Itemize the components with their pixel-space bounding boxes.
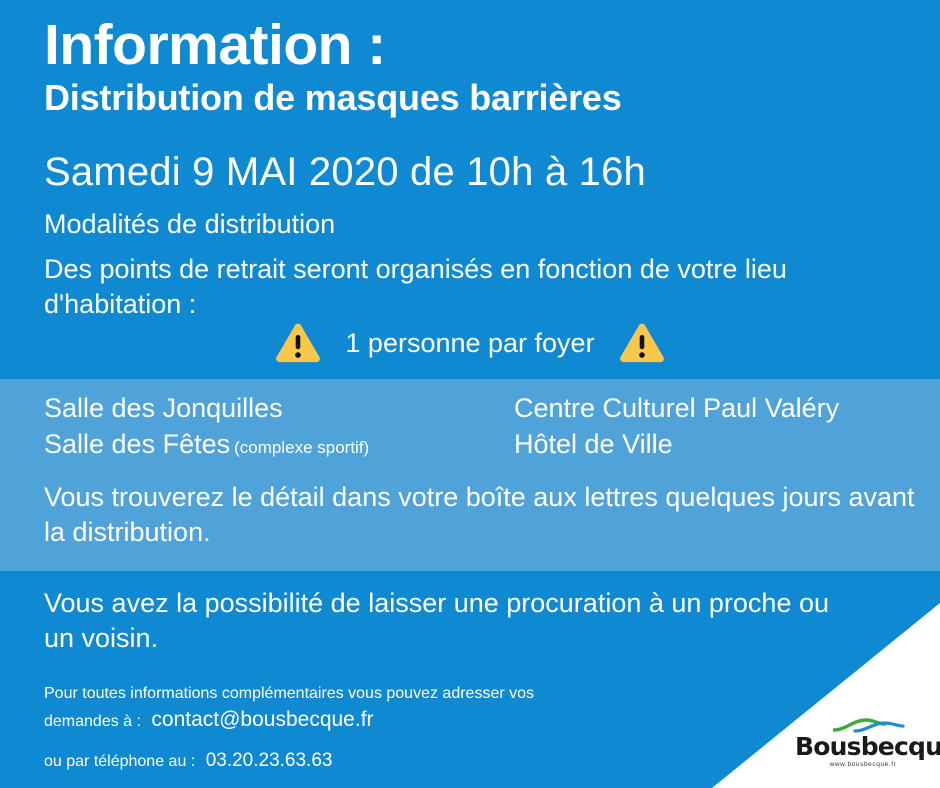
venue-column-left: Salle des Jonquilles Salle des Fêtes(com…	[44, 391, 514, 462]
venue-note	[839, 402, 843, 421]
bousbecque-logo: Bousbecque www.bousbecque.fr	[795, 718, 931, 768]
list-item: Hôtel de Ville	[514, 427, 914, 463]
poster-canvas: Information : Distribution de masques ba…	[0, 0, 940, 788]
venue-note	[283, 402, 287, 421]
contact-phone-line: ou par téléphone au : 03.20.23.63.63	[44, 747, 764, 775]
warning-text: 1 personne par foyer	[339, 328, 600, 359]
venue-note: (complexe sportif)	[230, 438, 369, 457]
contact-phone-label: ou par téléphone au :	[44, 753, 200, 770]
venue-column-right: Centre Culturel Paul Valéry Hôtel de Vil…	[514, 391, 914, 462]
venue-note	[673, 438, 677, 457]
event-date-line: Samedi 9 MAI 2020 de 10h à 16h	[44, 150, 646, 195]
venue-name: Salle des Jonquilles	[44, 393, 283, 423]
contact-email-line: demandes à : contact@bousbecque.fr	[44, 705, 764, 735]
venue-name: Salle des Fêtes	[44, 429, 230, 459]
venue-list: Salle des Jonquilles Salle des Fêtes(com…	[44, 391, 924, 462]
modalities-heading: Modalités de distribution	[44, 209, 335, 240]
venue-name: Centre Culturel Paul Valéry	[514, 393, 839, 423]
contact-email-label: demandes à :	[44, 713, 145, 730]
contact-intro-text: Pour toutes informations complémentaires…	[44, 685, 534, 702]
warning-triangle-icon	[275, 322, 321, 364]
list-item: Salle des Fêtes(complexe sportif)	[44, 427, 514, 463]
contact-phone-number[interactable]: 03.20.23.63.63	[200, 750, 333, 771]
contact-intro-line: Pour toutes informations complémentaires…	[44, 682, 764, 705]
contact-email-address[interactable]: contact@bousbecque.fr	[145, 708, 373, 731]
list-item: Salle des Jonquilles	[44, 391, 514, 427]
logo-website-url: www.bousbecque.fr	[795, 761, 931, 768]
warning-row: 1 personne par foyer	[0, 322, 940, 364]
logo-wordmark: Bousbecque	[795, 734, 931, 759]
logo-swoosh-icon	[833, 718, 905, 733]
modalities-intro-text: Des points de retrait seront organisés e…	[44, 252, 919, 321]
page-subtitle: Distribution de masques barrières	[44, 78, 904, 118]
list-item: Centre Culturel Paul Valéry	[514, 391, 914, 427]
warning-triangle-icon	[619, 322, 665, 364]
venue-name: Hôtel de Ville	[514, 429, 673, 459]
mailbox-note-text: Vous trouverez le détail dans votre boît…	[44, 480, 920, 550]
proxy-note-text: Vous avez la possibilité de laisser une …	[44, 586, 844, 656]
poster-header: Information : Distribution de masques ba…	[44, 16, 904, 118]
page-title: Information :	[44, 16, 904, 74]
contact-block: Pour toutes informations complémentaires…	[44, 682, 764, 774]
